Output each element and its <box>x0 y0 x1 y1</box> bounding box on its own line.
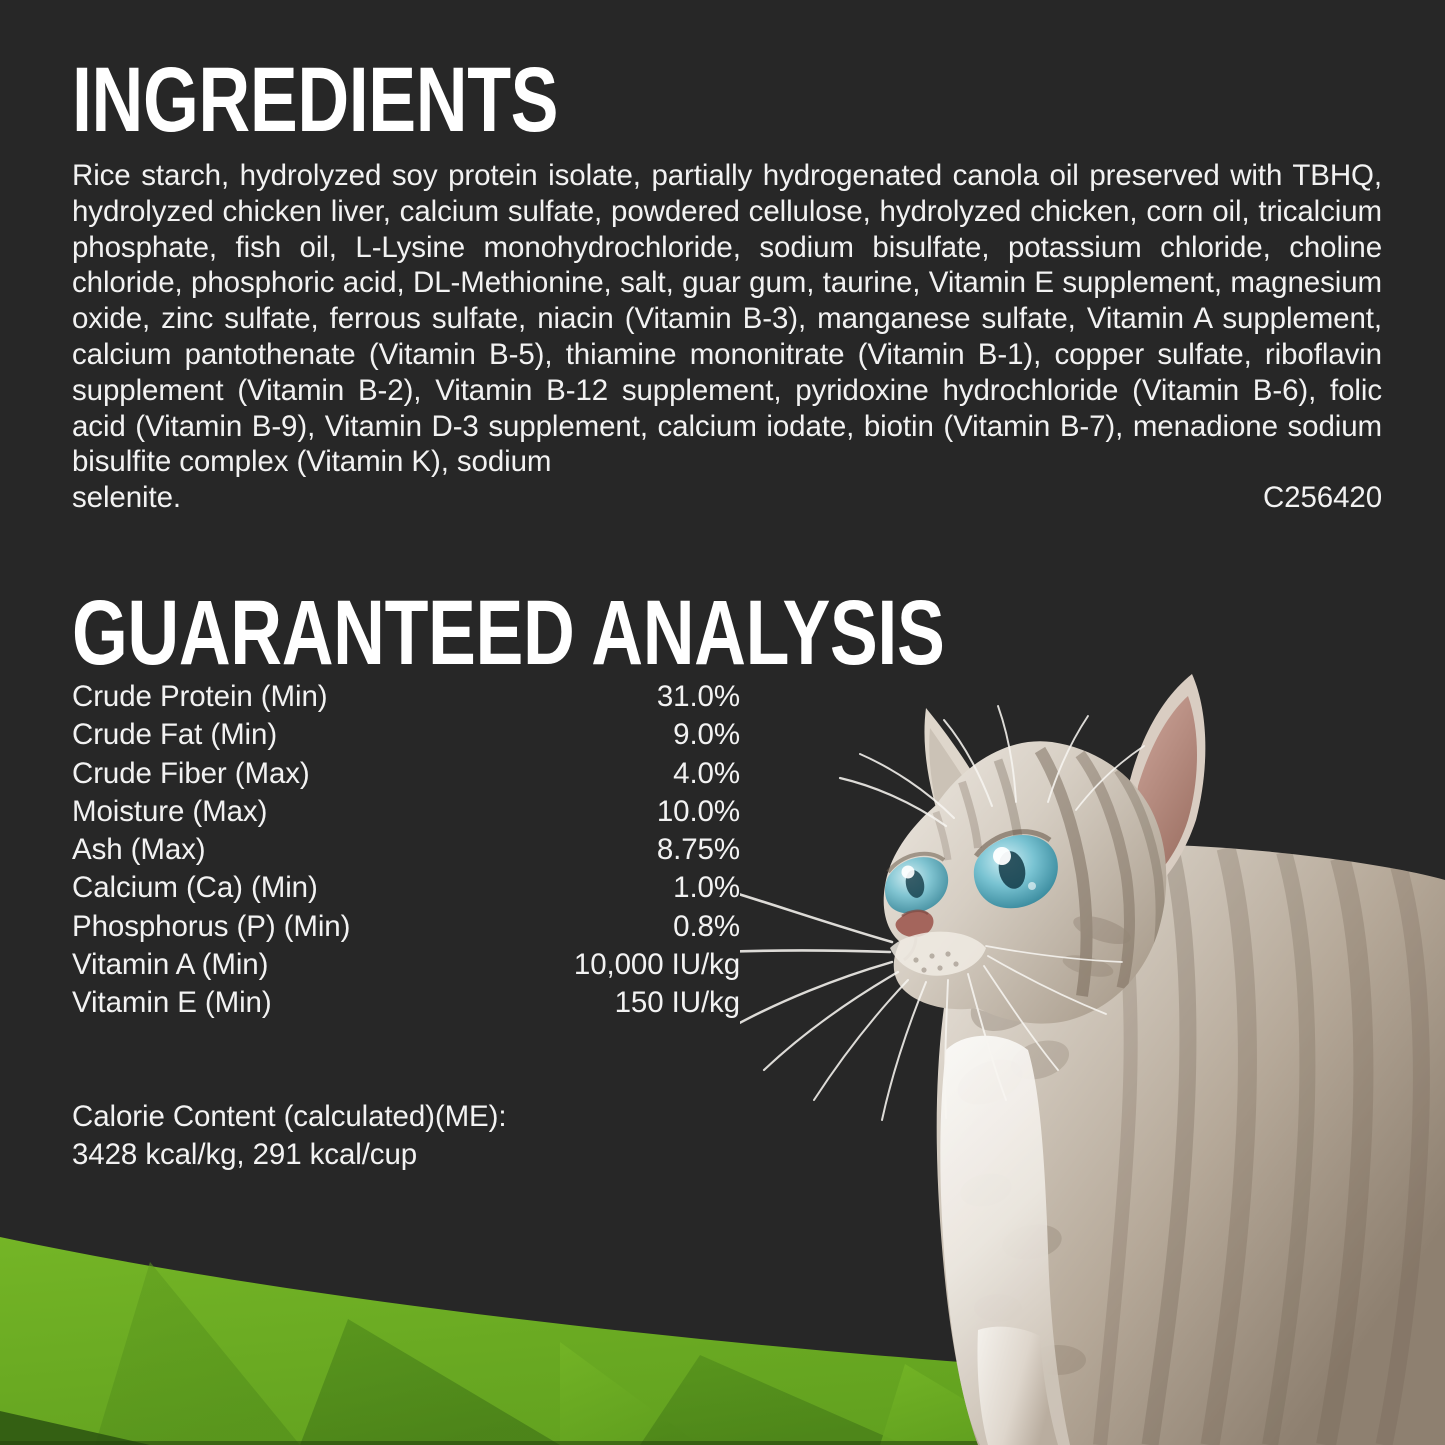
nutrient-value: 8.75% <box>657 831 740 869</box>
table-row: Crude Fiber (Max) 4.0% <box>72 755 740 793</box>
calorie-content-block: Calorie Content (calculated)(ME): 3428 k… <box>72 1098 692 1175</box>
nutrient-value: 10.0% <box>657 793 740 831</box>
table-row: Vitamin E (Min) 150 IU/kg <box>72 984 740 1022</box>
ingredients-last-word: selenite. <box>72 481 181 514</box>
guaranteed-analysis-heading: GUARANTEED ANALYSIS <box>72 585 944 681</box>
nutrient-label: Phosphorus (P) (Min) <box>72 908 350 946</box>
nutrient-label: Crude Protein (Min) <box>72 678 328 716</box>
table-row: Crude Fat (Min) 9.0% <box>72 716 740 754</box>
lot-code: C256420 <box>1263 480 1382 516</box>
table-row: Calcium (Ca) (Min) 1.0% <box>72 869 740 907</box>
table-row: Phosphorus (P) (Min) 0.8% <box>72 908 740 946</box>
nutrient-value: 150 IU/kg <box>615 984 740 1022</box>
calorie-content-value: 3428 kcal/kg, 291 kcal/cup <box>72 1136 692 1174</box>
label-text-content: INGREDIENTS Rice starch, hydrolyzed soy … <box>0 0 1445 1445</box>
ingredients-heading: INGREDIENTS <box>72 52 558 148</box>
ingredients-paragraph: Rice starch, hydrolyzed soy protein isol… <box>72 159 1382 478</box>
nutrient-value: 4.0% <box>673 755 740 793</box>
nutrient-label: Moisture (Max) <box>72 793 267 831</box>
nutrient-label: Calcium (Ca) (Min) <box>72 869 318 907</box>
table-row: Crude Protein (Min) 31.0% <box>72 678 740 716</box>
nutrient-label: Crude Fiber (Max) <box>72 755 310 793</box>
table-row: Moisture (Max) 10.0% <box>72 793 740 831</box>
nutrient-value: 1.0% <box>673 869 740 907</box>
nutrient-value: 9.0% <box>673 716 740 754</box>
nutrient-label: Crude Fat (Min) <box>72 716 277 754</box>
ingredients-last-line: selenite. C256420 <box>72 480 1382 516</box>
nutrient-value: 31.0% <box>657 678 740 716</box>
pet-food-label-panel: INGREDIENTS Rice starch, hydrolyzed soy … <box>0 0 1445 1445</box>
nutrient-label: Vitamin E (Min) <box>72 984 272 1022</box>
nutrient-value: 10,000 IU/kg <box>574 946 740 984</box>
table-row: Vitamin A (Min) 10,000 IU/kg <box>72 946 740 984</box>
nutrient-label: Vitamin A (Min) <box>72 946 268 984</box>
nutrient-value: 0.8% <box>673 908 740 946</box>
guaranteed-analysis-table: Crude Protein (Min) 31.0% Crude Fat (Min… <box>72 678 740 1023</box>
calorie-content-label: Calorie Content (calculated)(ME): <box>72 1098 692 1136</box>
nutrient-label: Ash (Max) <box>72 831 206 869</box>
ingredients-text: Rice starch, hydrolyzed soy protein isol… <box>72 158 1382 516</box>
table-row: Ash (Max) 8.75% <box>72 831 740 869</box>
